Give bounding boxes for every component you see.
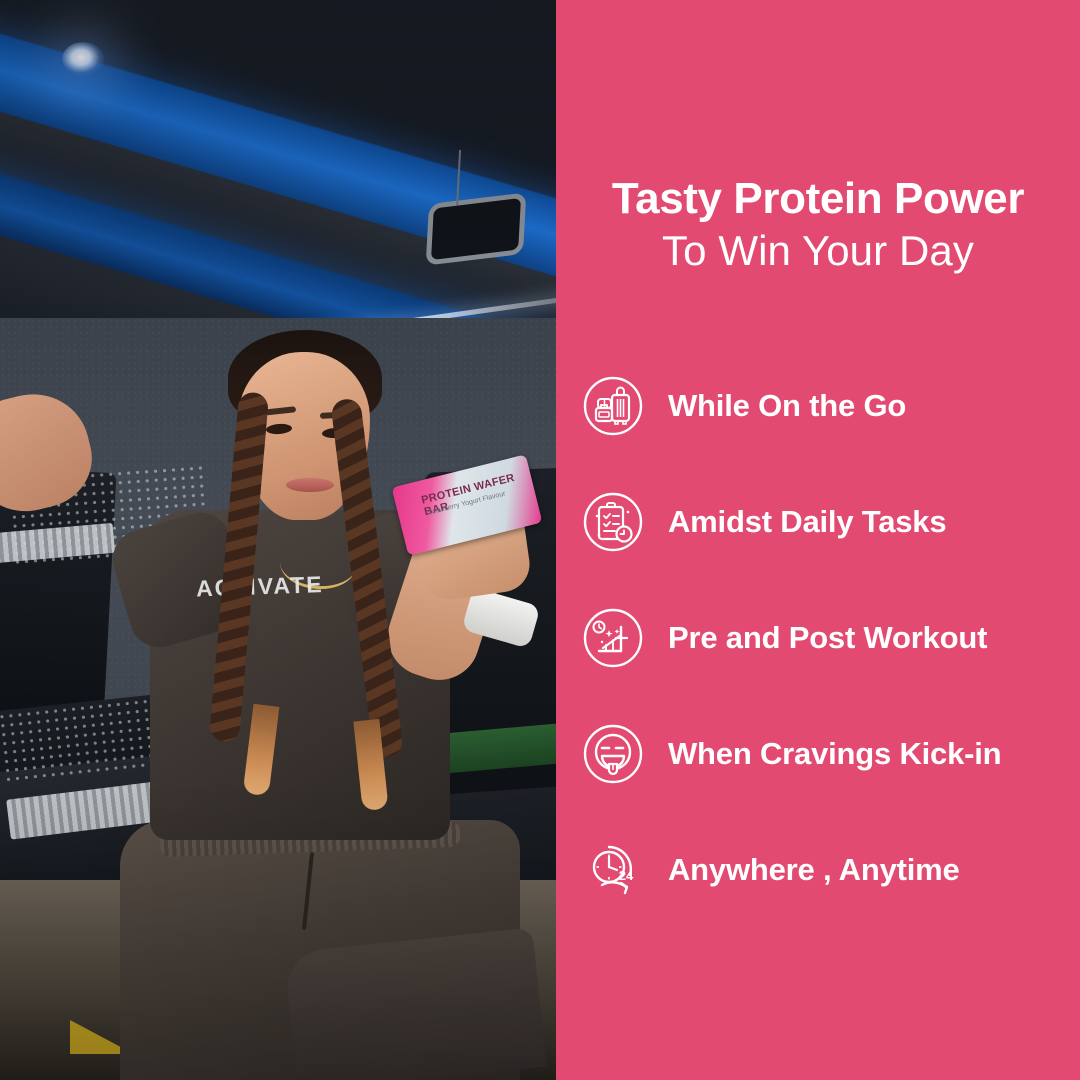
feature-label: Anywhere , Anytime [668, 852, 960, 888]
feature-item: When Cravings Kick-in [582, 720, 1070, 788]
feature-label: Amidst Daily Tasks [668, 504, 946, 540]
feature-item: While On the Go [582, 372, 1070, 440]
feature-label: Pre and Post Workout [668, 620, 987, 656]
flexed-arm [0, 382, 102, 523]
lips [286, 478, 334, 492]
svg-text:24: 24 [619, 868, 634, 883]
suitcase-luggage-icon [582, 375, 644, 437]
feature-label: When Cravings Kick-in [668, 736, 1001, 772]
headline-block: Tasty Protein Power To Win Your Day [556, 176, 1080, 274]
pink-content-panel: Tasty Protein Power To Win Your Day [556, 0, 1080, 1080]
clipboard-checklist-clock-icon [582, 491, 644, 553]
feature-item: Amidst Daily Tasks [582, 488, 1070, 556]
promo-poster: ACTIVATE FITLINE PROTEIN WAFER BAR Straw… [0, 0, 1080, 1080]
headline-line-1: Tasty Protein Power [570, 176, 1066, 223]
workout-bench-icon [582, 607, 644, 669]
gym-photo: ACTIVATE FITLINE PROTEIN WAFER BAR Straw… [0, 0, 556, 1080]
feature-label: While On the Go [668, 388, 906, 424]
headline-line-2: To Win Your Day [570, 227, 1066, 274]
clock-24-hours-icon: 24 [582, 839, 644, 901]
person-subject: ACTIVATE [0, 0, 556, 1080]
feature-list: While On the Go [582, 372, 1070, 904]
front-leg [283, 927, 546, 1080]
tongue-out-face-icon [582, 723, 644, 785]
feature-item: Pre and Post Workout [582, 604, 1070, 672]
feature-item: 24 Anywhere , Anytime [582, 836, 1070, 904]
